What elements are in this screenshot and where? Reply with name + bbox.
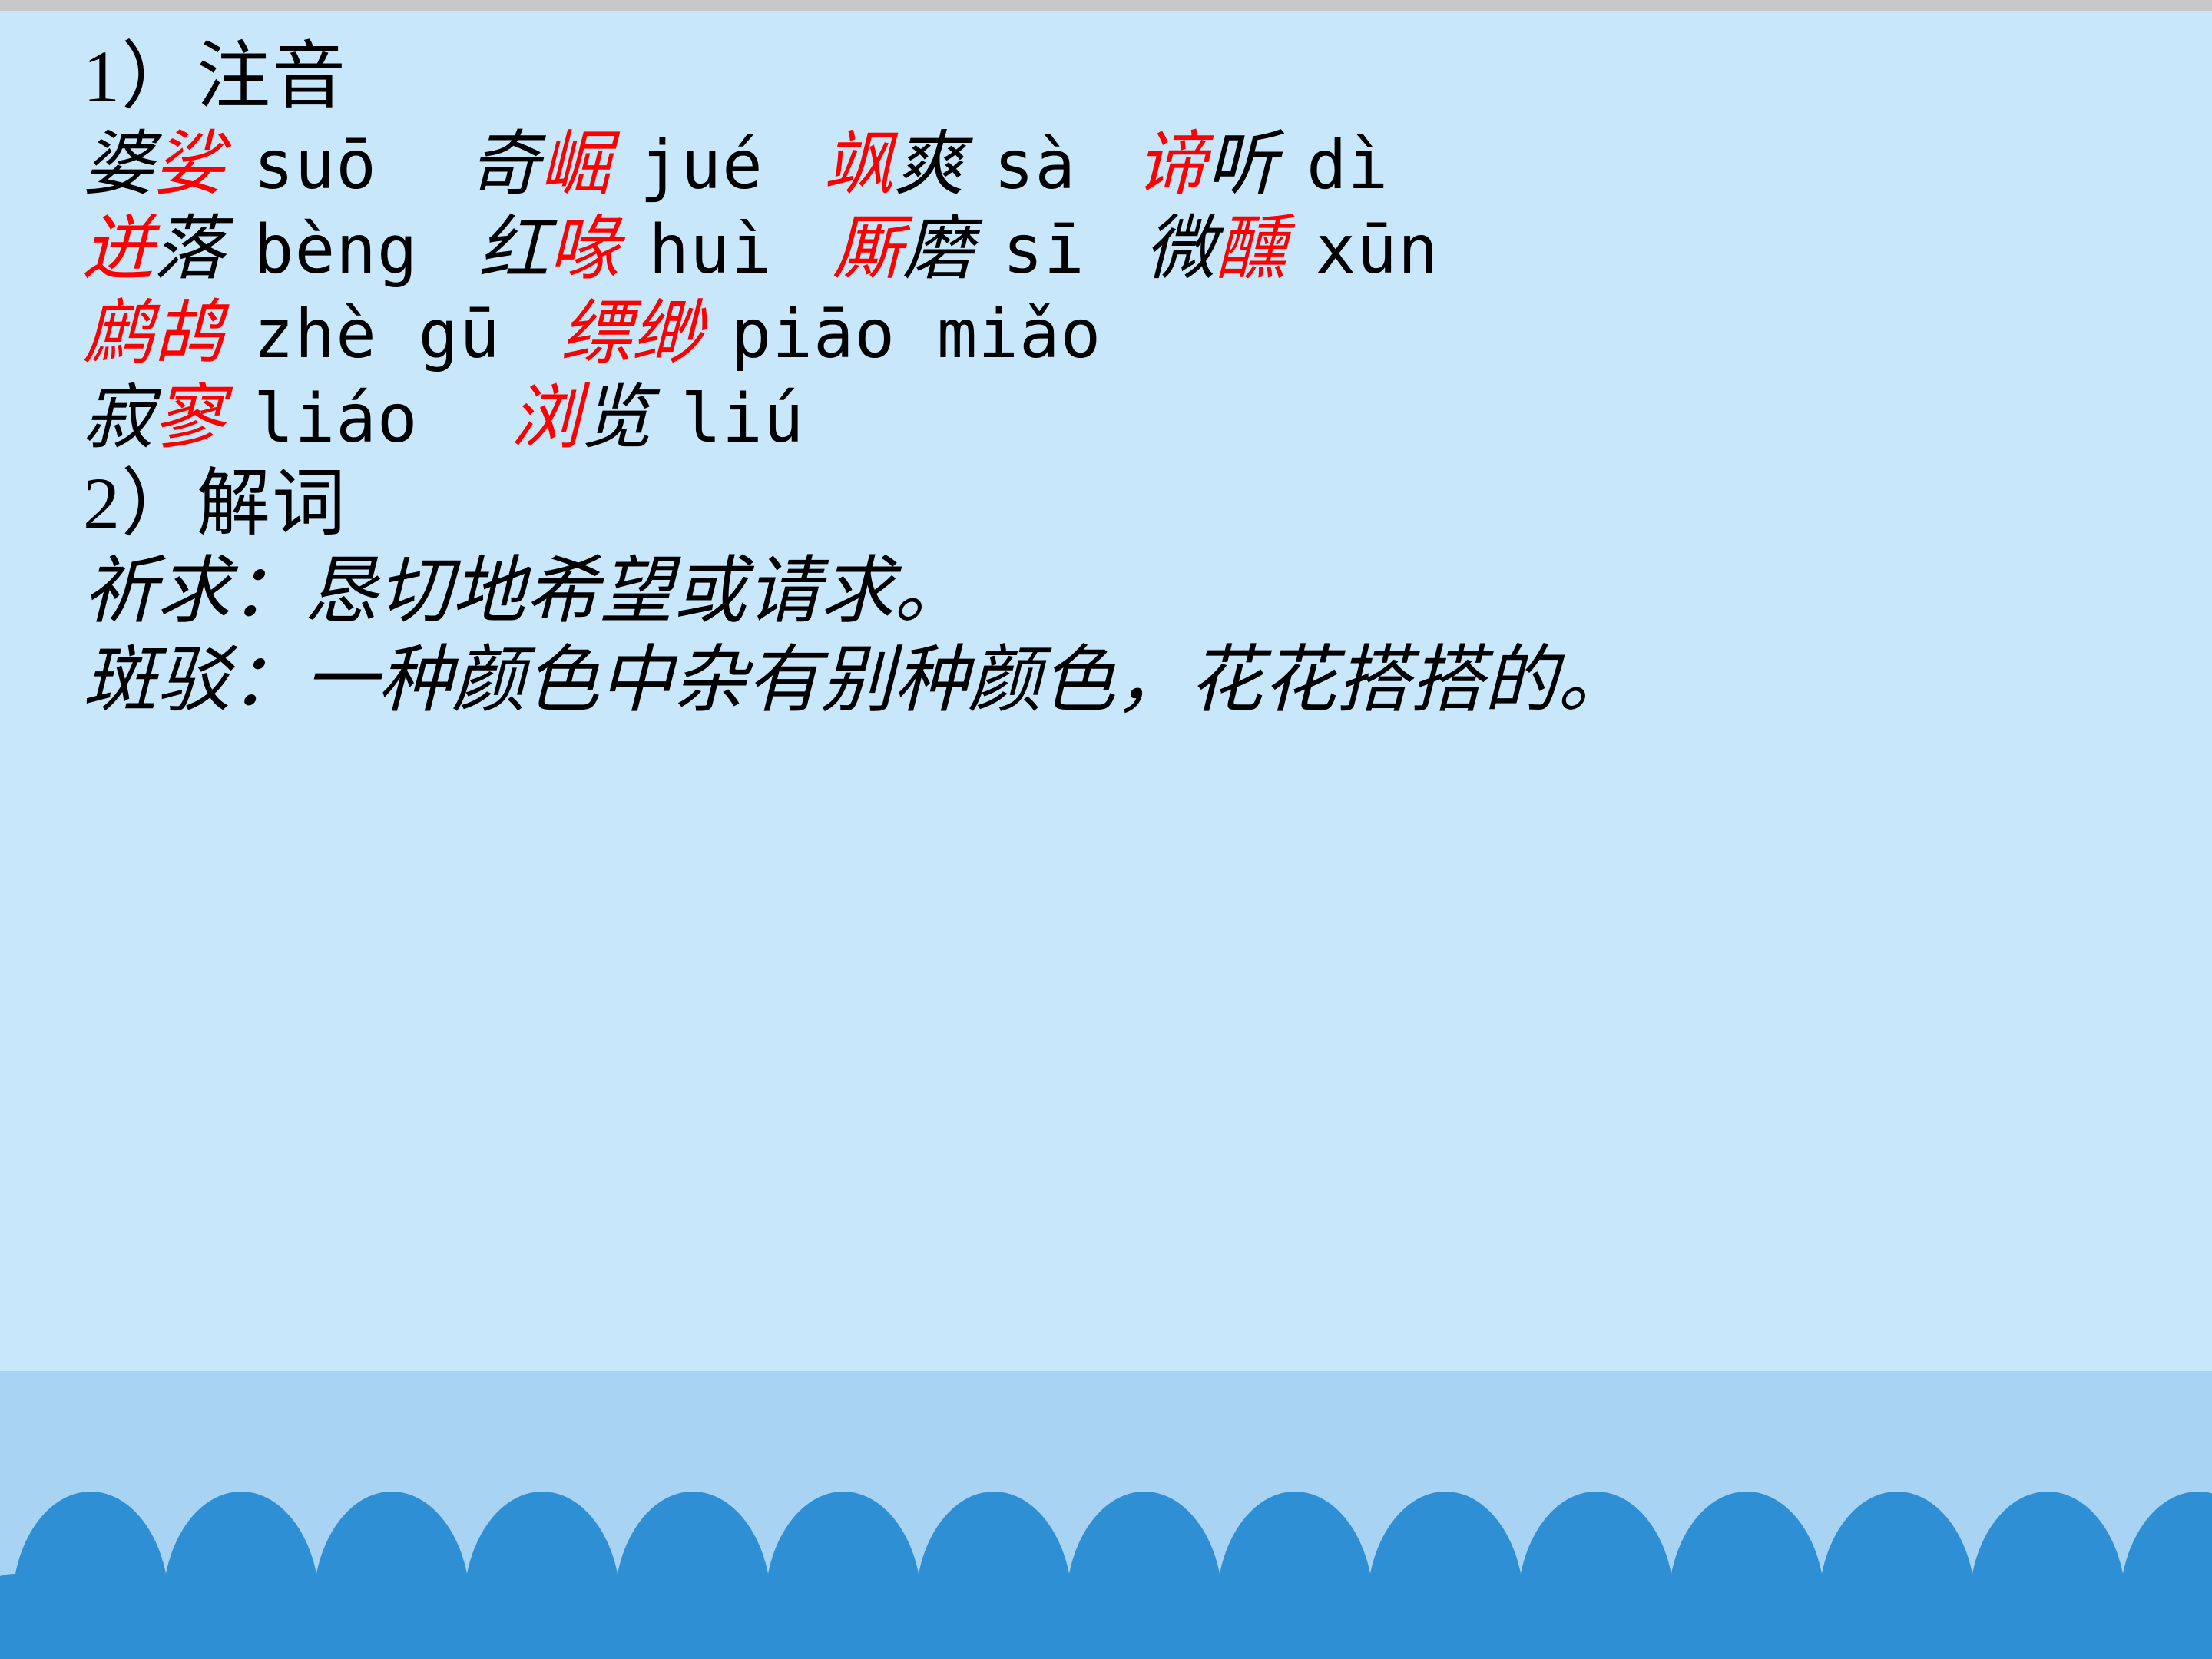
vocab-prefix: 婆 xyxy=(83,125,154,204)
scallop-shape xyxy=(1292,1574,1449,1659)
vocab-suffix: 览 xyxy=(581,379,652,457)
definition-meaning: 恳切地希望或请求。 xyxy=(304,550,968,632)
vocab-highlight: 谛 xyxy=(1136,125,1207,204)
vocab-prefix: 奇 xyxy=(469,125,540,204)
vocab-suffix: 爽 xyxy=(894,125,965,204)
vocab-pinyin: zhè gū xyxy=(253,295,501,373)
vocab-highlight: 喙 xyxy=(549,210,620,288)
vocab-entry: 迸落bèng xyxy=(83,214,419,284)
vocab-entry: 浏览liú xyxy=(511,382,805,453)
scallop-shape xyxy=(1894,1574,2051,1659)
vocab-pinyin: liú xyxy=(681,379,805,458)
scallop-shape xyxy=(690,1574,846,1659)
scallop-shape xyxy=(238,1574,395,1659)
vocab-pinyin: dì xyxy=(1306,126,1389,204)
vocab-pinyin: huì xyxy=(649,210,773,289)
vocab-highlight: 浏 xyxy=(511,379,581,457)
definition-term: 斑驳 xyxy=(83,639,230,721)
scallop-shape xyxy=(88,1574,244,1659)
vocab-pinyin: liáo xyxy=(253,379,418,458)
scallop-shape xyxy=(389,1574,545,1659)
vocab-highlight: 缥缈 xyxy=(561,294,702,373)
vocab-suffix: 听 xyxy=(1207,125,1277,204)
vocab-pinyin: suō xyxy=(253,126,377,204)
scallop-row-front xyxy=(0,1572,2212,1659)
footer-decoration-band xyxy=(0,1371,2212,1659)
vocab-row: 鹧鸪zhè gū缥缈piāo miǎo xyxy=(83,298,1101,369)
vocab-highlight: 醺 xyxy=(1216,210,1286,288)
vocab-entry: 奇崛jué xyxy=(469,129,763,200)
vocab-prefix: 寂 xyxy=(83,379,154,457)
scallop-shape xyxy=(2045,1574,2201,1659)
definition-section-heading: 2）解词 xyxy=(83,467,347,541)
definition-separator: ： xyxy=(230,639,304,721)
vocab-entry: 鹧鸪zhè gū xyxy=(83,298,501,369)
scallop-shape xyxy=(0,1574,94,1659)
vocab-highlight: 厮 xyxy=(832,210,902,288)
scallop-shape xyxy=(840,1574,997,1659)
vocab-pinyin: xūn xyxy=(1316,210,1439,289)
vocab-suffix: 磨 xyxy=(902,210,973,288)
vocab-highlight: 娑 xyxy=(154,125,224,204)
vocab-row: 迸落bèng红喙huì厮磨sī微醺xūn xyxy=(83,214,1439,284)
scallop-shape xyxy=(2195,1574,2212,1659)
vocab-pinyin: jué xyxy=(640,126,763,204)
vocab-entry: 微醺xūn xyxy=(1145,214,1439,284)
scallop-shape xyxy=(1442,1574,1599,1659)
vocab-row: 寂寥liáo浏览liú xyxy=(83,382,804,453)
scallop-shape xyxy=(1593,1574,1750,1659)
scallop-shape xyxy=(991,1574,1147,1659)
vocab-prefix: 红 xyxy=(478,210,549,288)
vocab-pinyin: sī xyxy=(1002,210,1084,289)
definition-item: 祈求：恳切地希望或请求。 xyxy=(83,555,968,628)
vocab-entry: 飒爽sà xyxy=(823,129,1076,200)
vocab-highlight: 迸 xyxy=(83,210,154,288)
pronunciation-section-heading: 1）注音 xyxy=(83,40,347,114)
vocab-pinyin: bèng xyxy=(253,210,418,289)
slide-canvas: 1）注音 婆娑suō奇崛jué飒爽sà谛听dì 迸落bèng红喙huì厮磨sī微… xyxy=(0,0,2212,1659)
vocab-highlight: 寥 xyxy=(154,379,224,457)
scallop-shape xyxy=(539,1574,696,1659)
vocab-suffix: 落 xyxy=(154,210,224,288)
vocab-entry: 寂寥liáo xyxy=(83,382,419,453)
text-layer: 1）注音 婆娑suō奇崛jué飒爽sà谛听dì 迸落bèng红喙huì厮磨sī微… xyxy=(0,0,2212,1371)
vocab-prefix: 微 xyxy=(1145,210,1216,288)
definition-item: 斑驳：一种颜色中杂有别种颜色，花花搭搭的。 xyxy=(83,644,1631,717)
definition-separator: ： xyxy=(230,550,304,632)
vocab-entry: 婆娑suō xyxy=(83,129,377,200)
definition-term: 祈求 xyxy=(83,550,230,632)
vocab-entry: 谛听dì xyxy=(1136,129,1389,200)
vocab-highlight: 崛 xyxy=(540,125,611,204)
scallop-shape xyxy=(1743,1574,1900,1659)
vocab-highlight: 飒 xyxy=(823,125,894,204)
scallop-shape xyxy=(1141,1574,1298,1659)
definition-meaning: 一种颜色中杂有别种颜色，花花搭搭的。 xyxy=(304,639,1631,721)
vocab-highlight: 鹧鸪 xyxy=(83,294,224,373)
vocab-entry: 厮磨sī xyxy=(832,214,1084,284)
vocab-entry: 缥缈piāo miǎo xyxy=(561,298,1102,369)
vocab-pinyin: piāo miǎo xyxy=(731,295,1102,373)
vocab-pinyin: sà xyxy=(994,126,1076,204)
vocab-row: 婆娑suō奇崛jué飒爽sà谛听dì xyxy=(83,129,1389,200)
vocab-entry: 红喙huì xyxy=(478,214,773,284)
